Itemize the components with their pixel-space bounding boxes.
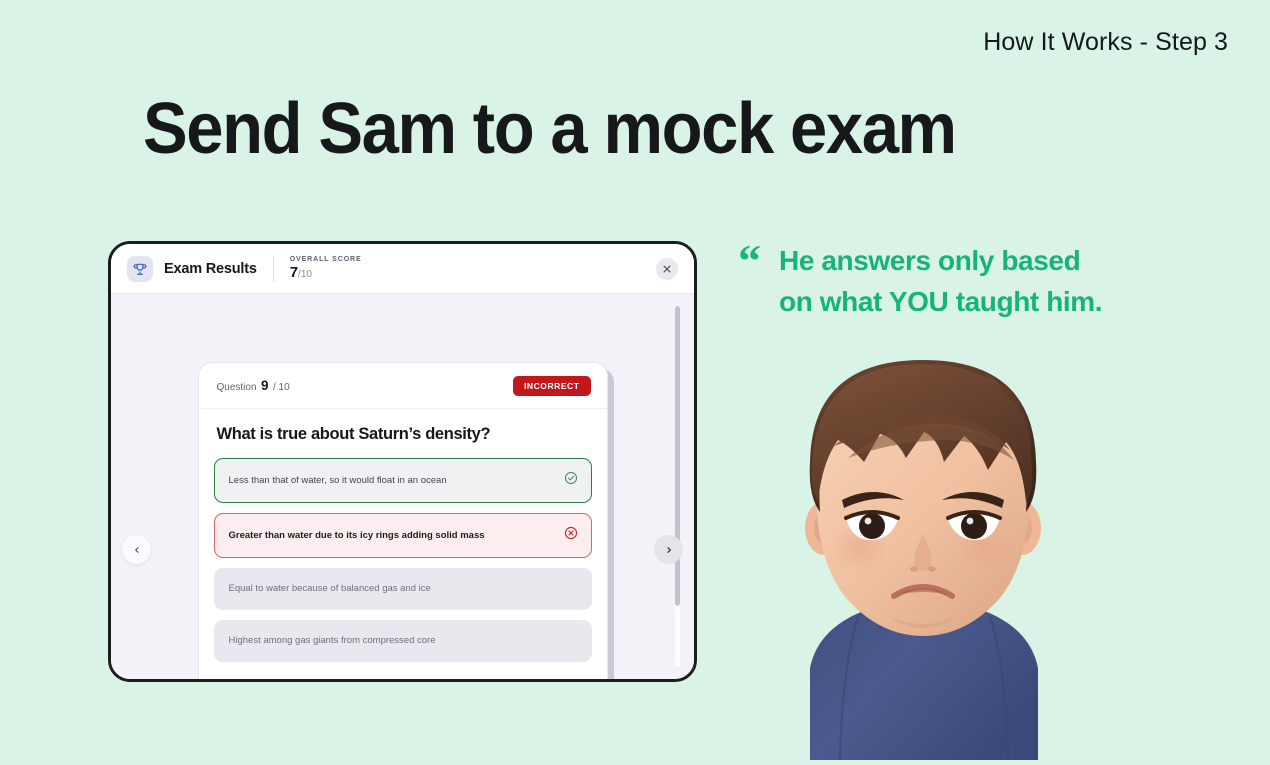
quote-block: “ He answers only based on what YOU taug… — [738, 240, 1208, 322]
status-badge: INCORRECT — [513, 376, 590, 396]
next-question-button[interactable] — [654, 535, 683, 564]
close-button[interactable] — [656, 258, 678, 280]
score-label: OVERALL SCORE — [290, 256, 362, 263]
answer-option-2-label: Greater than water due to its icy rings … — [229, 530, 485, 541]
quote-line-2: on what YOU taught him. — [779, 286, 1102, 317]
overall-score: OVERALL SCORE 7/10 — [290, 256, 362, 282]
trophy-icon — [127, 256, 153, 282]
question-counter-prefix: Question — [217, 382, 257, 393]
answer-option-2[interactable]: Greater than water due to its icy rings … — [214, 513, 592, 558]
sams-reasoning-panel: SAM'S REASONING "Saturn's density exceed… — [214, 680, 592, 682]
question-counter: Question 9 / 10 — [217, 377, 290, 395]
x-circle-icon — [564, 526, 578, 545]
modal-title: Exam Results — [164, 261, 257, 277]
question-counter-suffix: / 10 — [273, 382, 290, 393]
answer-option-4-label: Highest among gas giants from compressed… — [229, 635, 436, 646]
quote-line-1: He answers only based — [779, 245, 1080, 276]
score-denominator: /10 — [298, 269, 312, 280]
question-card: Question 9 / 10 INCORRECT What is true a… — [198, 362, 608, 682]
answer-option-3-label: Equal to water because of balanced gas a… — [229, 583, 431, 594]
answer-option-3[interactable]: Equal to water because of balanced gas a… — [214, 568, 592, 610]
prev-question-button[interactable] — [122, 535, 151, 564]
pupil-left — [859, 513, 885, 539]
score-value: 7 — [290, 264, 298, 281]
question-content: What is true about Saturn’s density? Les… — [199, 409, 607, 682]
header-divider — [273, 256, 274, 282]
answer-option-4[interactable]: Highest among gas giants from compressed… — [214, 620, 592, 662]
pupil-right — [961, 513, 987, 539]
modal-body: Question 9 / 10 INCORRECT What is true a… — [111, 294, 694, 679]
question-text: What is true about Saturn’s density? — [214, 425, 592, 444]
step-label: How It Works - Step 3 — [983, 28, 1228, 57]
modal-header: Exam Results OVERALL SCORE 7/10 — [111, 244, 694, 294]
question-card-wrapper: Question 9 / 10 INCORRECT What is true a… — [198, 362, 608, 682]
question-topbar: Question 9 / 10 INCORRECT — [199, 363, 607, 409]
quote-mark-icon: “ — [738, 244, 761, 322]
exam-results-modal: Exam Results OVERALL SCORE 7/10 — [108, 241, 697, 682]
check-circle-icon — [564, 471, 578, 490]
page-title: Send Sam to a mock exam — [143, 88, 956, 170]
answer-option-1-label: Less than that of water, so it would flo… — [229, 475, 447, 486]
quote-text: He answers only based on what YOU taught… — [779, 240, 1102, 322]
sam-avatar — [738, 350, 1108, 760]
question-number: 9 — [261, 378, 269, 393]
scrollbar[interactable] — [675, 306, 680, 667]
answer-option-1[interactable]: Less than that of water, so it would flo… — [214, 458, 592, 503]
